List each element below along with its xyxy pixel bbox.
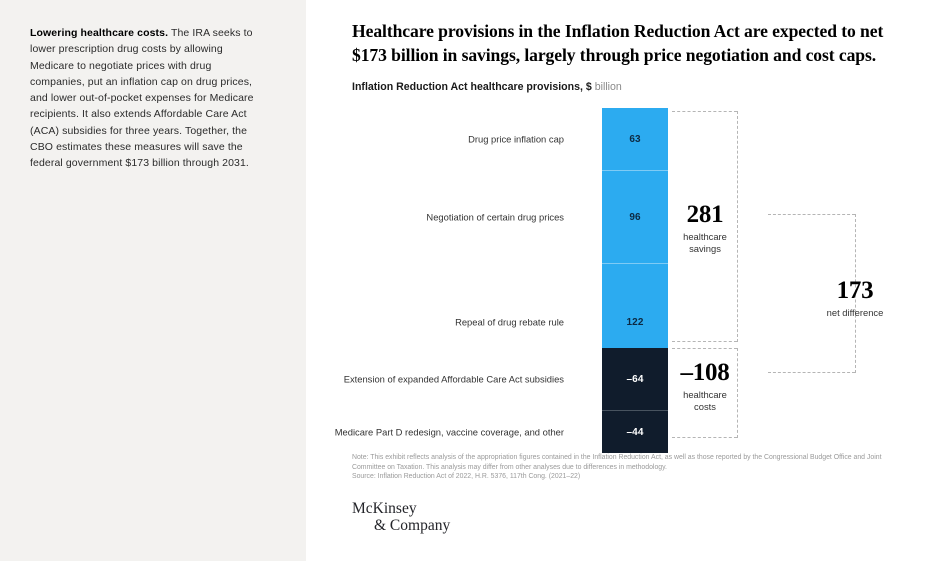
source-text: Source: Inflation Reduction Act of 2022,… [352,472,914,482]
mckinsey-logo: McKinsey & Company [352,500,450,534]
costs-bracket-top [672,348,737,349]
bar-segment[interactable]: –44 [602,410,668,453]
bar-label: Medicare Part D redesign, vaccine covera… [335,426,564,437]
bar-row: Negotiation of certain drug prices 96 [352,170,912,263]
logo-line-1: McKinsey [352,500,450,517]
savings-bracket-top [672,111,737,112]
bar-label: Extension of expanded Affordable Care Ac… [344,374,564,385]
callout-value: 281 [672,202,738,228]
bar-segment[interactable]: 96 [602,170,668,263]
bar-label: Drug price inflation cap [468,134,564,145]
bar-row: Medicare Part D redesign, vaccine covera… [352,410,912,453]
chart-subtitle-unit: billion [592,81,622,93]
sidebar-paragraph: Lowering healthcare costs. The IRA seeks… [30,25,268,172]
callout-caption-line2: savings [689,243,721,254]
callout-caption: net difference [792,307,918,319]
waterfall-chart: Drug price inflation cap 63 Negotiation … [352,108,912,443]
bar-segment[interactable]: –64 [602,348,668,410]
bar-label: Repeal of drug rebate rule [455,317,564,328]
callout-value: 173 [792,278,918,304]
logo-line-2: & Company [352,517,450,534]
sidebar-lead: Lowering healthcare costs. [30,27,168,39]
net-bracket-top [768,214,855,215]
callout-savings: 281 healthcaresavings [672,202,738,256]
footnotes: Note: This exhibit reflects analysis of … [352,453,914,482]
bar-segment[interactable]: 63 [602,108,668,170]
bar-row: Drug price inflation cap 63 [352,108,912,170]
exhibit-page: Lowering healthcare costs. The IRA seeks… [0,0,934,569]
chart-subtitle-bold: Inflation Reduction Act healthcare provi… [352,81,592,93]
sidebar-panel: Lowering healthcare costs. The IRA seeks… [0,0,306,561]
callout-net-difference: 173 net difference [792,278,918,319]
callout-caption: healthcarecosts [672,389,738,413]
savings-bracket-bottom [672,341,737,342]
bar-label: Negotiation of certain drug prices [426,211,564,222]
bar-row: Extension of expanded Affordable Care Ac… [352,348,912,410]
chart-subtitle: Inflation Reduction Act healthcare provi… [352,81,622,93]
sidebar-body: The IRA seeks to lower prescription drug… [30,27,254,169]
callout-caption-line1: healthcare [683,389,727,400]
net-bracket-bottom [768,372,855,373]
callout-costs: –108 healthcarecosts [672,360,738,414]
callout-value: –108 [672,360,738,386]
callout-caption-line1: healthcare [683,231,727,242]
callout-caption: healthcaresavings [672,231,738,255]
costs-bracket-bottom [672,437,737,438]
callout-caption-line2: costs [694,401,716,412]
page-title: Healthcare provisions in the Inflation R… [352,19,912,67]
note-text: Note: This exhibit reflects analysis of … [352,453,914,472]
